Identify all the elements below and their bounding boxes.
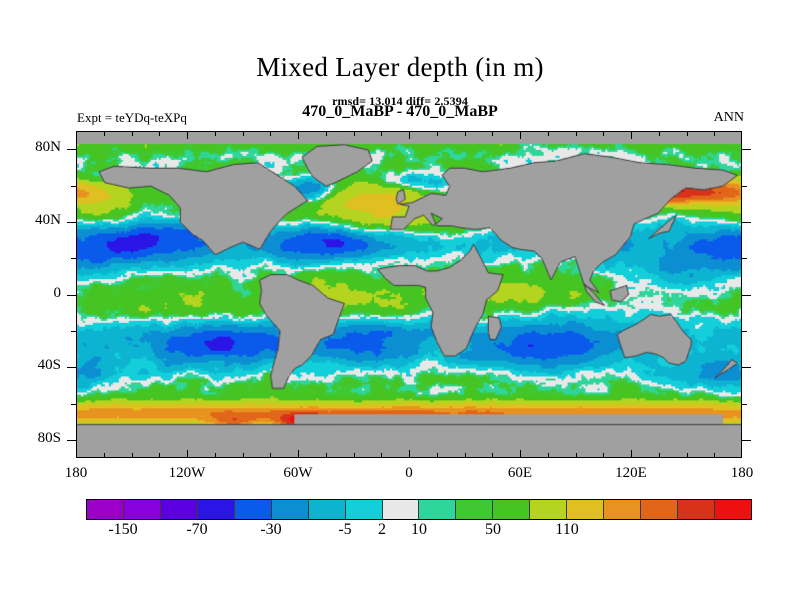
y-axis-label-80N: 80N bbox=[0, 139, 61, 156]
axis-tick bbox=[71, 331, 76, 332]
axis-tick bbox=[437, 453, 438, 458]
axis-tick bbox=[742, 440, 751, 441]
axis-tick bbox=[548, 453, 549, 458]
axis-tick bbox=[298, 450, 299, 458]
axis-tick bbox=[270, 131, 271, 136]
axis-tick bbox=[67, 367, 76, 368]
axis-tick bbox=[71, 258, 76, 259]
axis-tick bbox=[67, 295, 76, 296]
mixed-layer-depth-heatmap bbox=[77, 132, 741, 457]
colorbar-segment-5 bbox=[272, 500, 309, 519]
x-axis-label-180: 180 bbox=[702, 465, 782, 482]
axis-tick bbox=[742, 186, 747, 187]
axis-tick bbox=[742, 258, 747, 259]
axis-tick bbox=[742, 222, 751, 223]
axis-tick bbox=[465, 131, 466, 136]
axis-tick bbox=[71, 186, 76, 187]
colorbar-segment-2 bbox=[161, 500, 198, 519]
y-axis-label-80S: 80S bbox=[0, 430, 61, 447]
axis-tick bbox=[104, 131, 105, 136]
x-axis-label-60W: 60W bbox=[258, 465, 338, 482]
colorbar-label-neg150: -150 bbox=[83, 521, 163, 539]
axis-tick bbox=[631, 450, 632, 458]
axis-tick bbox=[270, 453, 271, 458]
season-label: ANN bbox=[714, 110, 744, 126]
colorbar-segment-3 bbox=[198, 500, 235, 519]
colorbar-segment-1 bbox=[124, 500, 161, 519]
axis-tick bbox=[243, 131, 244, 136]
axis-tick bbox=[520, 131, 521, 139]
axis-tick bbox=[714, 453, 715, 458]
x-axis-label-120E: 120E bbox=[591, 465, 671, 482]
axis-tick bbox=[104, 453, 105, 458]
axis-tick bbox=[409, 450, 410, 458]
axis-tick bbox=[71, 404, 76, 405]
colorbar-label-110: 110 bbox=[527, 521, 607, 539]
colorbar-segment-11 bbox=[493, 500, 530, 519]
colorbar-label-neg30: -30 bbox=[231, 521, 311, 539]
page-title: Mixed Layer depth (in m) bbox=[0, 52, 800, 83]
x-axis-label-180: 180 bbox=[36, 465, 116, 482]
axis-tick bbox=[437, 131, 438, 136]
axis-tick bbox=[492, 131, 493, 136]
colorbar-segment-6 bbox=[309, 500, 346, 519]
colorbar-segment-9 bbox=[419, 500, 456, 519]
axis-tick bbox=[576, 131, 577, 136]
x-axis-label-0: 0 bbox=[369, 465, 449, 482]
axis-tick bbox=[215, 131, 216, 136]
axis-tick bbox=[215, 453, 216, 458]
axis-tick bbox=[354, 453, 355, 458]
axis-tick bbox=[742, 149, 751, 150]
axis-tick bbox=[298, 131, 299, 139]
axis-tick bbox=[465, 453, 466, 458]
axis-tick bbox=[381, 131, 382, 136]
axis-tick bbox=[326, 131, 327, 136]
map-plot-area bbox=[76, 131, 742, 458]
axis-tick bbox=[187, 450, 188, 458]
axis-tick bbox=[687, 453, 688, 458]
colorbar-segment-4 bbox=[235, 500, 272, 519]
colorbar-segment-15 bbox=[641, 500, 678, 519]
colorbar-segment-8 bbox=[383, 500, 420, 519]
axis-tick bbox=[67, 222, 76, 223]
colorbar-segment-13 bbox=[567, 500, 604, 519]
axis-tick bbox=[603, 131, 604, 136]
axis-tick bbox=[354, 131, 355, 136]
axis-tick bbox=[714, 131, 715, 136]
colorbar-segment-17 bbox=[715, 500, 751, 519]
axis-tick bbox=[187, 131, 188, 139]
y-axis-label-40S: 40S bbox=[0, 357, 61, 374]
colorbar-segment-14 bbox=[604, 500, 641, 519]
axis-tick bbox=[159, 131, 160, 136]
axis-tick bbox=[742, 295, 751, 296]
colorbar-segment-0 bbox=[87, 500, 124, 519]
axis-tick bbox=[159, 453, 160, 458]
axis-tick bbox=[67, 440, 76, 441]
colorbar-segment-10 bbox=[456, 500, 493, 519]
axis-tick bbox=[381, 453, 382, 458]
axis-tick bbox=[132, 453, 133, 458]
axis-tick bbox=[409, 131, 410, 139]
axis-tick bbox=[742, 367, 751, 368]
colorbar-label-50: 50 bbox=[453, 521, 533, 539]
x-axis-label-120W: 120W bbox=[147, 465, 227, 482]
axis-tick bbox=[603, 453, 604, 458]
axis-tick bbox=[243, 453, 244, 458]
axis-tick bbox=[742, 404, 747, 405]
axis-tick bbox=[520, 450, 521, 458]
axis-tick bbox=[631, 131, 632, 139]
axis-tick bbox=[548, 131, 549, 136]
experiment-label: Expt = teYDq-teXPq bbox=[77, 110, 187, 126]
colorbar-label-neg70: -70 bbox=[157, 521, 237, 539]
axis-tick bbox=[742, 331, 747, 332]
axis-tick bbox=[326, 453, 327, 458]
colorbar-segment-16 bbox=[678, 500, 715, 519]
axis-tick bbox=[132, 131, 133, 136]
axis-tick bbox=[687, 131, 688, 136]
axis-tick bbox=[67, 149, 76, 150]
axis-tick bbox=[576, 453, 577, 458]
colorbar-segment-7 bbox=[346, 500, 383, 519]
colorbar-segment-12 bbox=[530, 500, 567, 519]
y-axis-label-40N: 40N bbox=[0, 212, 61, 229]
axis-tick bbox=[659, 453, 660, 458]
colorbar-label-10: 10 bbox=[379, 521, 459, 539]
y-axis-label-0: 0 bbox=[0, 285, 61, 302]
x-axis-label-60E: 60E bbox=[480, 465, 560, 482]
colorbar bbox=[86, 499, 752, 520]
axis-tick bbox=[659, 131, 660, 136]
axis-tick bbox=[492, 453, 493, 458]
